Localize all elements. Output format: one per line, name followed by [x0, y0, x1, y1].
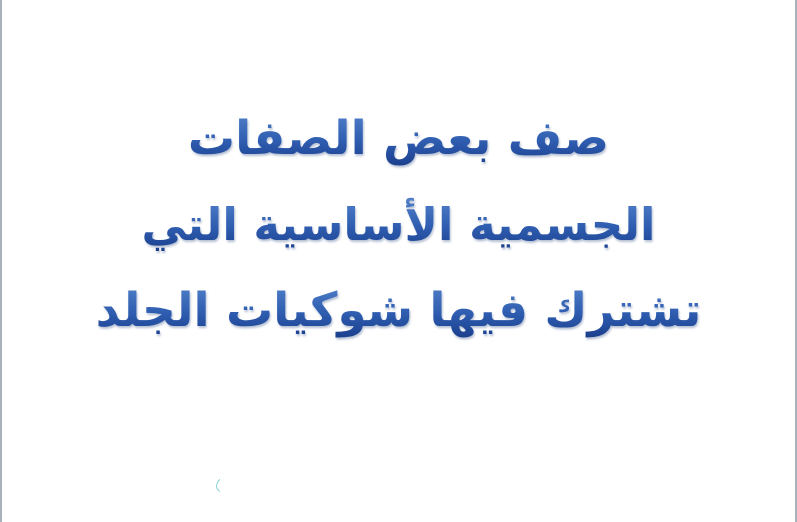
question-text-block: صف بعض الصفات الجسمية الأساسية التي تشتر… — [2, 96, 795, 354]
brand-wordmark-text: موسوعة — [213, 443, 220, 508]
question-line-3: تشترك فيها شوكيات الجلد — [2, 268, 795, 354]
brand-logo-watermark: موسوعة — [10, 428, 220, 514]
slide-canvas: صف بعض الصفات الجسمية الأساسية التي تشتر… — [0, 0, 797, 522]
brand-logo-icon: موسوعة — [10, 428, 220, 514]
question-line-2: الجسمية الأساسية التي — [2, 182, 795, 268]
question-line-1: صف بعض الصفات — [2, 96, 795, 182]
